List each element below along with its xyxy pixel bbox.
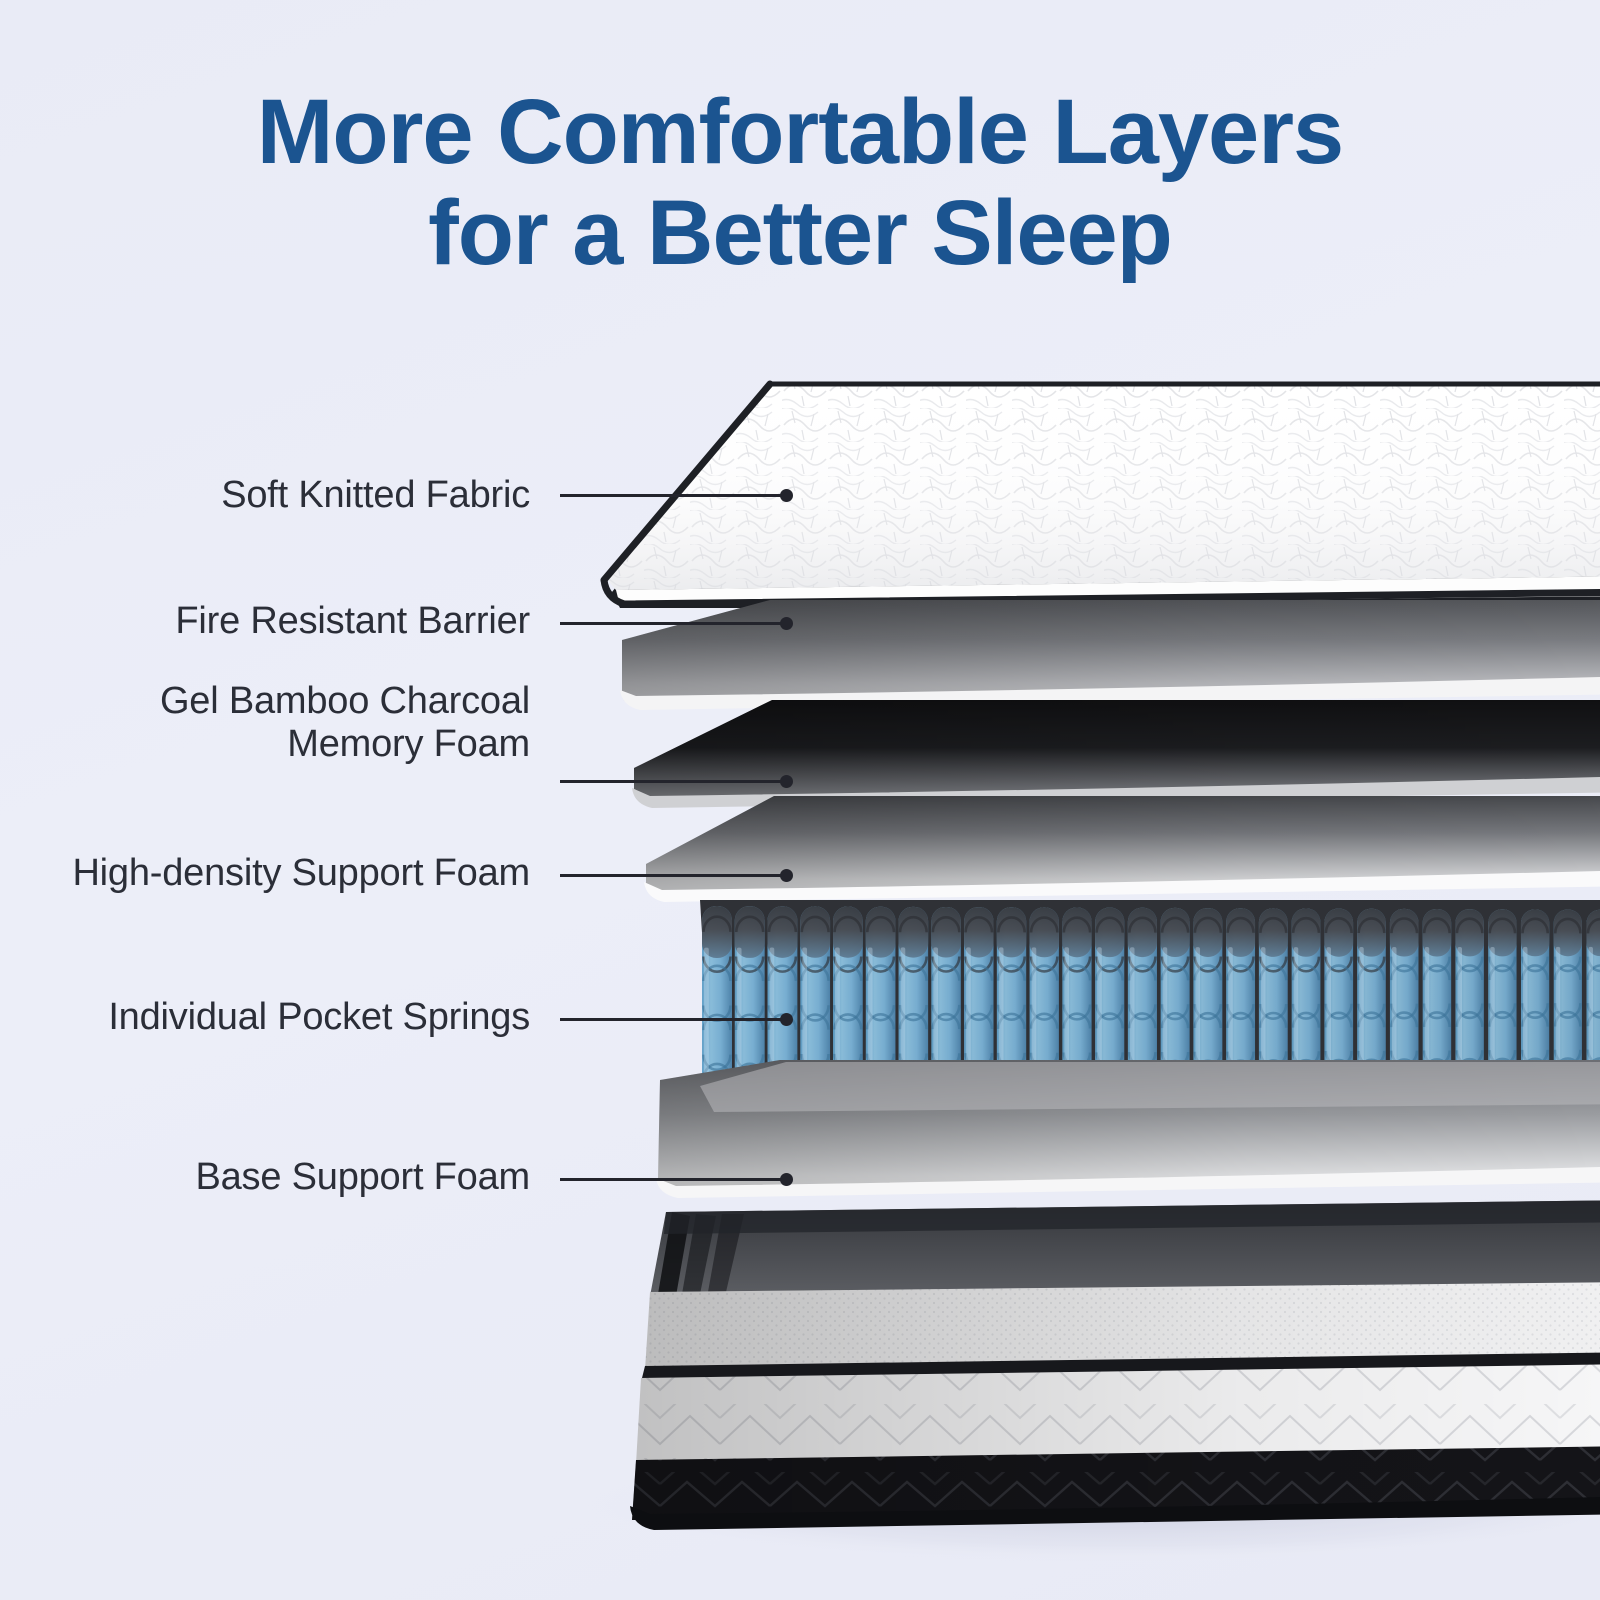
leader-dot-base-support-foam (780, 1173, 793, 1186)
leader-dot-fire-resistant-barrier (780, 617, 793, 630)
label-fire-resistant-barrier: Fire Resistant Barrier (0, 600, 530, 643)
leader-line-gel-bamboo-charcoal-memory-foam (560, 780, 786, 783)
leader-dot-high-density-support-foam (780, 869, 793, 882)
label-base-support-foam: Base Support Foam (0, 1156, 530, 1199)
leader-dot-soft-knitted-fabric (780, 489, 793, 502)
leader-dot-gel-bamboo-charcoal-memory-foam (780, 775, 793, 788)
layer-fire-resistant-barrier (620, 600, 1600, 710)
leader-line-soft-knitted-fabric (560, 494, 786, 497)
leader-line-individual-pocket-springs (560, 1018, 786, 1021)
layer-gel-bamboo-charcoal-memory-foam (632, 700, 1600, 808)
leader-line-fire-resistant-barrier (560, 622, 786, 625)
infographic-canvas: More Comfortable Layers for a Better Sle… (0, 0, 1600, 1600)
label-gel-bamboo-charcoal-memory-foam: Gel Bamboo Charcoal Memory Foam (0, 680, 530, 765)
leader-line-base-support-foam (560, 1178, 786, 1181)
mattress-layers-svg (0, 0, 1600, 1600)
layer-high-density-support-foam (644, 796, 1600, 902)
label-high-density-support-foam: High-density Support Foam (0, 852, 530, 895)
mattress-exploded-diagram (0, 0, 1600, 1600)
pocket-spring (702, 906, 732, 1096)
layer-base-support-foam (656, 1060, 1600, 1198)
leader-line-high-density-support-foam (560, 874, 786, 877)
leader-dot-individual-pocket-springs (780, 1013, 793, 1026)
mattress-base-block (630, 1200, 1600, 1530)
label-individual-pocket-springs: Individual Pocket Springs (0, 996, 530, 1039)
label-soft-knitted-fabric: Soft Knitted Fabric (0, 474, 530, 517)
